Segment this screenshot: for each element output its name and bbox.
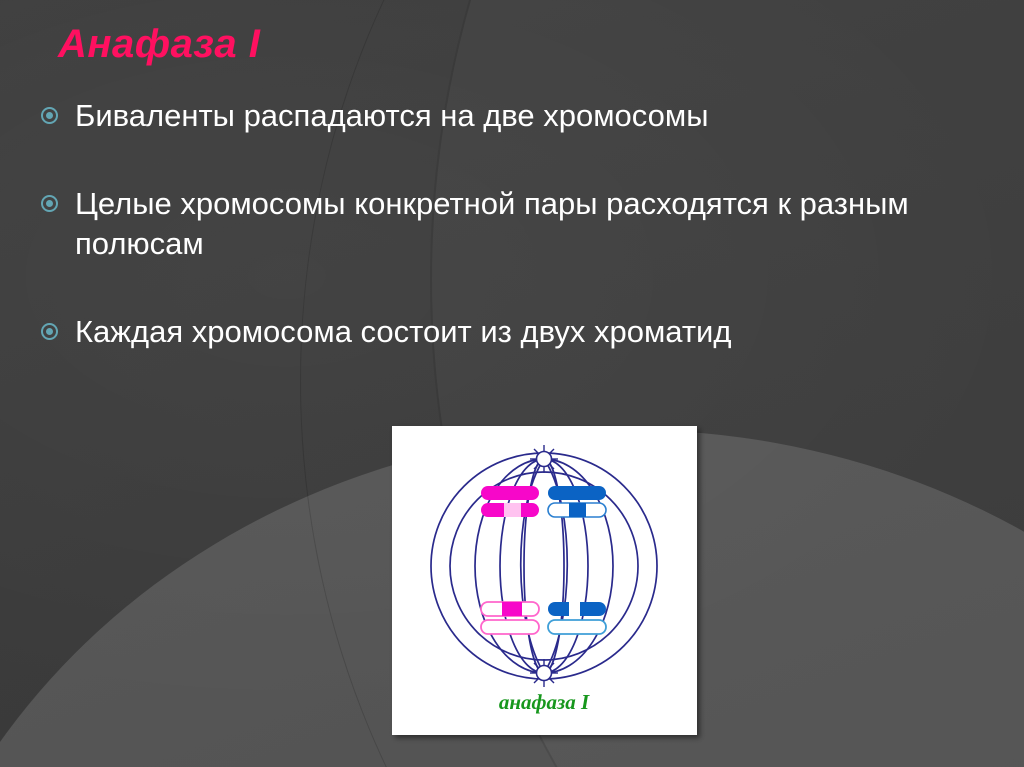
circled-dot-icon [38, 320, 64, 346]
list-item-label: Биваленты распадаются на две хромосомы [75, 96, 708, 136]
bullet-list: Биваленты распадаются на две хромосомы Ц… [38, 96, 978, 400]
cell-membrane-inner [450, 472, 638, 660]
list-item-label: Каждая хромосома состоит из двух хромати… [75, 312, 731, 352]
aster-star-icon [530, 445, 558, 473]
figure-caption: анафаза I [499, 690, 590, 714]
slide-title: Анафаза I [58, 22, 260, 67]
list-item: Целые хромосомы конкретной пары расходят… [38, 184, 978, 264]
blue-chromosome-solid [548, 486, 606, 517]
magenta-chromosome-outlined [481, 602, 539, 634]
anaphase-1-diagram: анафаза I [392, 426, 697, 735]
list-item: Каждая хромосома состоит из двух хромати… [38, 312, 978, 352]
slide-anaphase-1: Анафаза I Биваленты распадаются на две х… [0, 0, 1024, 767]
list-item-label: Целые хромосомы конкретной пары расходят… [75, 184, 975, 264]
circled-dot-icon [38, 104, 64, 130]
circled-dot-icon [38, 192, 64, 218]
aster-star-icon [530, 659, 558, 687]
cell-membrane-outer [431, 453, 657, 679]
blue-chromosome-outlined [548, 602, 606, 634]
figure-image-card: анафаза I [392, 426, 697, 735]
list-item: Биваленты распадаются на две хромосомы [38, 96, 978, 136]
